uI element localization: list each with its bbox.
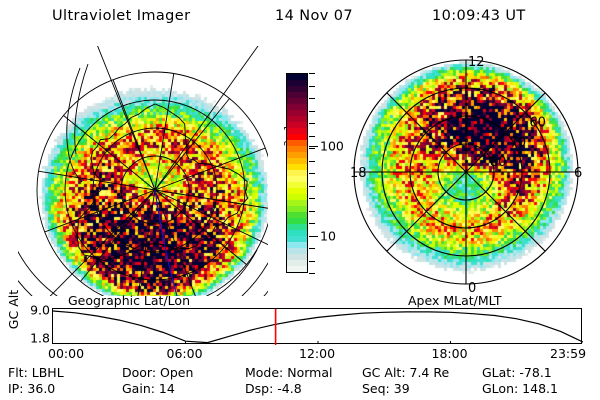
status-door: Door: Open (122, 365, 193, 380)
colorbar-tick (309, 73, 315, 74)
orbit-x-tick-label: 18:00 (432, 346, 468, 361)
colorbar-tick (309, 248, 315, 249)
colorbar-tick (309, 198, 315, 199)
geo-meridian-6 (39, 171, 155, 190)
colorbar-tick (309, 211, 315, 212)
geo-meridian-9 (155, 74, 174, 190)
orbit-x-tick-label: 23:59 (550, 346, 586, 361)
status-mode: Mode: Normal (245, 365, 332, 380)
apex-mlt-label-6: 6 (574, 166, 582, 181)
geo-limb-arc-0 (18, 250, 257, 296)
colorbar-tick (309, 148, 315, 149)
colorbar-tick (309, 223, 315, 224)
apex-mlat-label-60: 60 (529, 116, 546, 131)
geographic-grid-overlay (18, 46, 268, 296)
geo-coastline (77, 104, 247, 261)
colorbar-tick (309, 186, 315, 187)
orbit-altitude-curve (53, 311, 583, 343)
colorbar-tick-label: 100 (320, 139, 344, 154)
status-panel: Flt: LBHL Door: Open Mode: Normal GC Alt… (0, 365, 600, 399)
colorbar-tick (309, 173, 315, 174)
colorbar-major-tick (309, 146, 318, 147)
colorbar-tick (309, 123, 315, 124)
orbit-x-tick-label: 12:00 (299, 346, 335, 361)
geo-meridian-0 (155, 190, 268, 209)
colorbar-major-tick (309, 236, 318, 237)
orbit-altitude-plot: GC Alt 9.01.8 00:0006:0012:0018:0023:59 (0, 300, 600, 358)
colorbar-tick (309, 261, 315, 262)
status-row-2: IP: 36.0 Gain: 14 Dsp: -4.8 Seq: 39 GLon… (0, 381, 600, 397)
observation-time: 10:09:43 UT (432, 8, 526, 24)
orbit-y-tick-label: 9.0 (30, 303, 50, 318)
colorbar-scale (286, 73, 308, 273)
header-bar: Ultraviolet Imager 14 Nov 07 10:09:43 UT (0, 8, 600, 30)
status-gain: Gain: 14 (122, 381, 175, 396)
apex-polar-plot: 121860607080 (348, 46, 588, 296)
apex-mlt-label-18: 18 (350, 166, 367, 181)
observation-date: 14 Nov 07 (275, 8, 353, 24)
orbit-track-curve (53, 309, 583, 345)
status-row-1: Flt: LBHL Door: Open Mode: Normal GC Alt… (0, 365, 600, 381)
colorbar-tick (309, 273, 315, 274)
orbit-plot-area (52, 308, 582, 344)
status-glat: GLat: -78.1 (482, 365, 552, 380)
apex-mlt-spoke-5 (387, 93, 466, 172)
colorbar-tick (309, 136, 315, 137)
apex-grid-overlay: 121860607080 (348, 46, 588, 296)
geographic-polar-plot (18, 46, 268, 296)
colorbar-tick (309, 98, 315, 99)
apex-mlt-label-12: 12 (468, 55, 485, 70)
orbit-y-tick-label: 1.8 (30, 331, 50, 346)
status-dsp: Dsp: -4.8 (245, 381, 302, 396)
apex-mlat-label-70: 70 (510, 135, 527, 150)
colorbar: photon cm-2s-1 10010 (262, 60, 348, 290)
geo-long-meridian-1 (62, 46, 155, 190)
status-gc-alt: GC Alt: 7.4 Re (362, 365, 449, 380)
orbit-x-tick-label: 06:00 (167, 346, 203, 361)
status-glon: GLon: 148.1 (482, 381, 558, 396)
orbit-x-tick-label: 00:00 (48, 346, 84, 361)
apex-mlt-spoke-3 (387, 172, 466, 251)
colorbar-tick (309, 161, 315, 162)
apex-mlt-spoke-1 (466, 172, 545, 251)
apex-mlat-label-80: 80 (490, 155, 507, 170)
status-flight: Flt: LBHL (8, 365, 64, 380)
colorbar-gradient (287, 74, 307, 272)
status-ip: IP: 36.0 (8, 381, 55, 396)
status-seq: Seq: 39 (362, 381, 410, 396)
colorbar-tick (309, 86, 315, 87)
instrument-title: Ultraviolet Imager (52, 8, 190, 24)
colorbar-tick-label: 10 (320, 229, 336, 244)
colorbar-tick (309, 111, 315, 112)
orbit-y-ticks: 9.01.8 (20, 300, 50, 344)
